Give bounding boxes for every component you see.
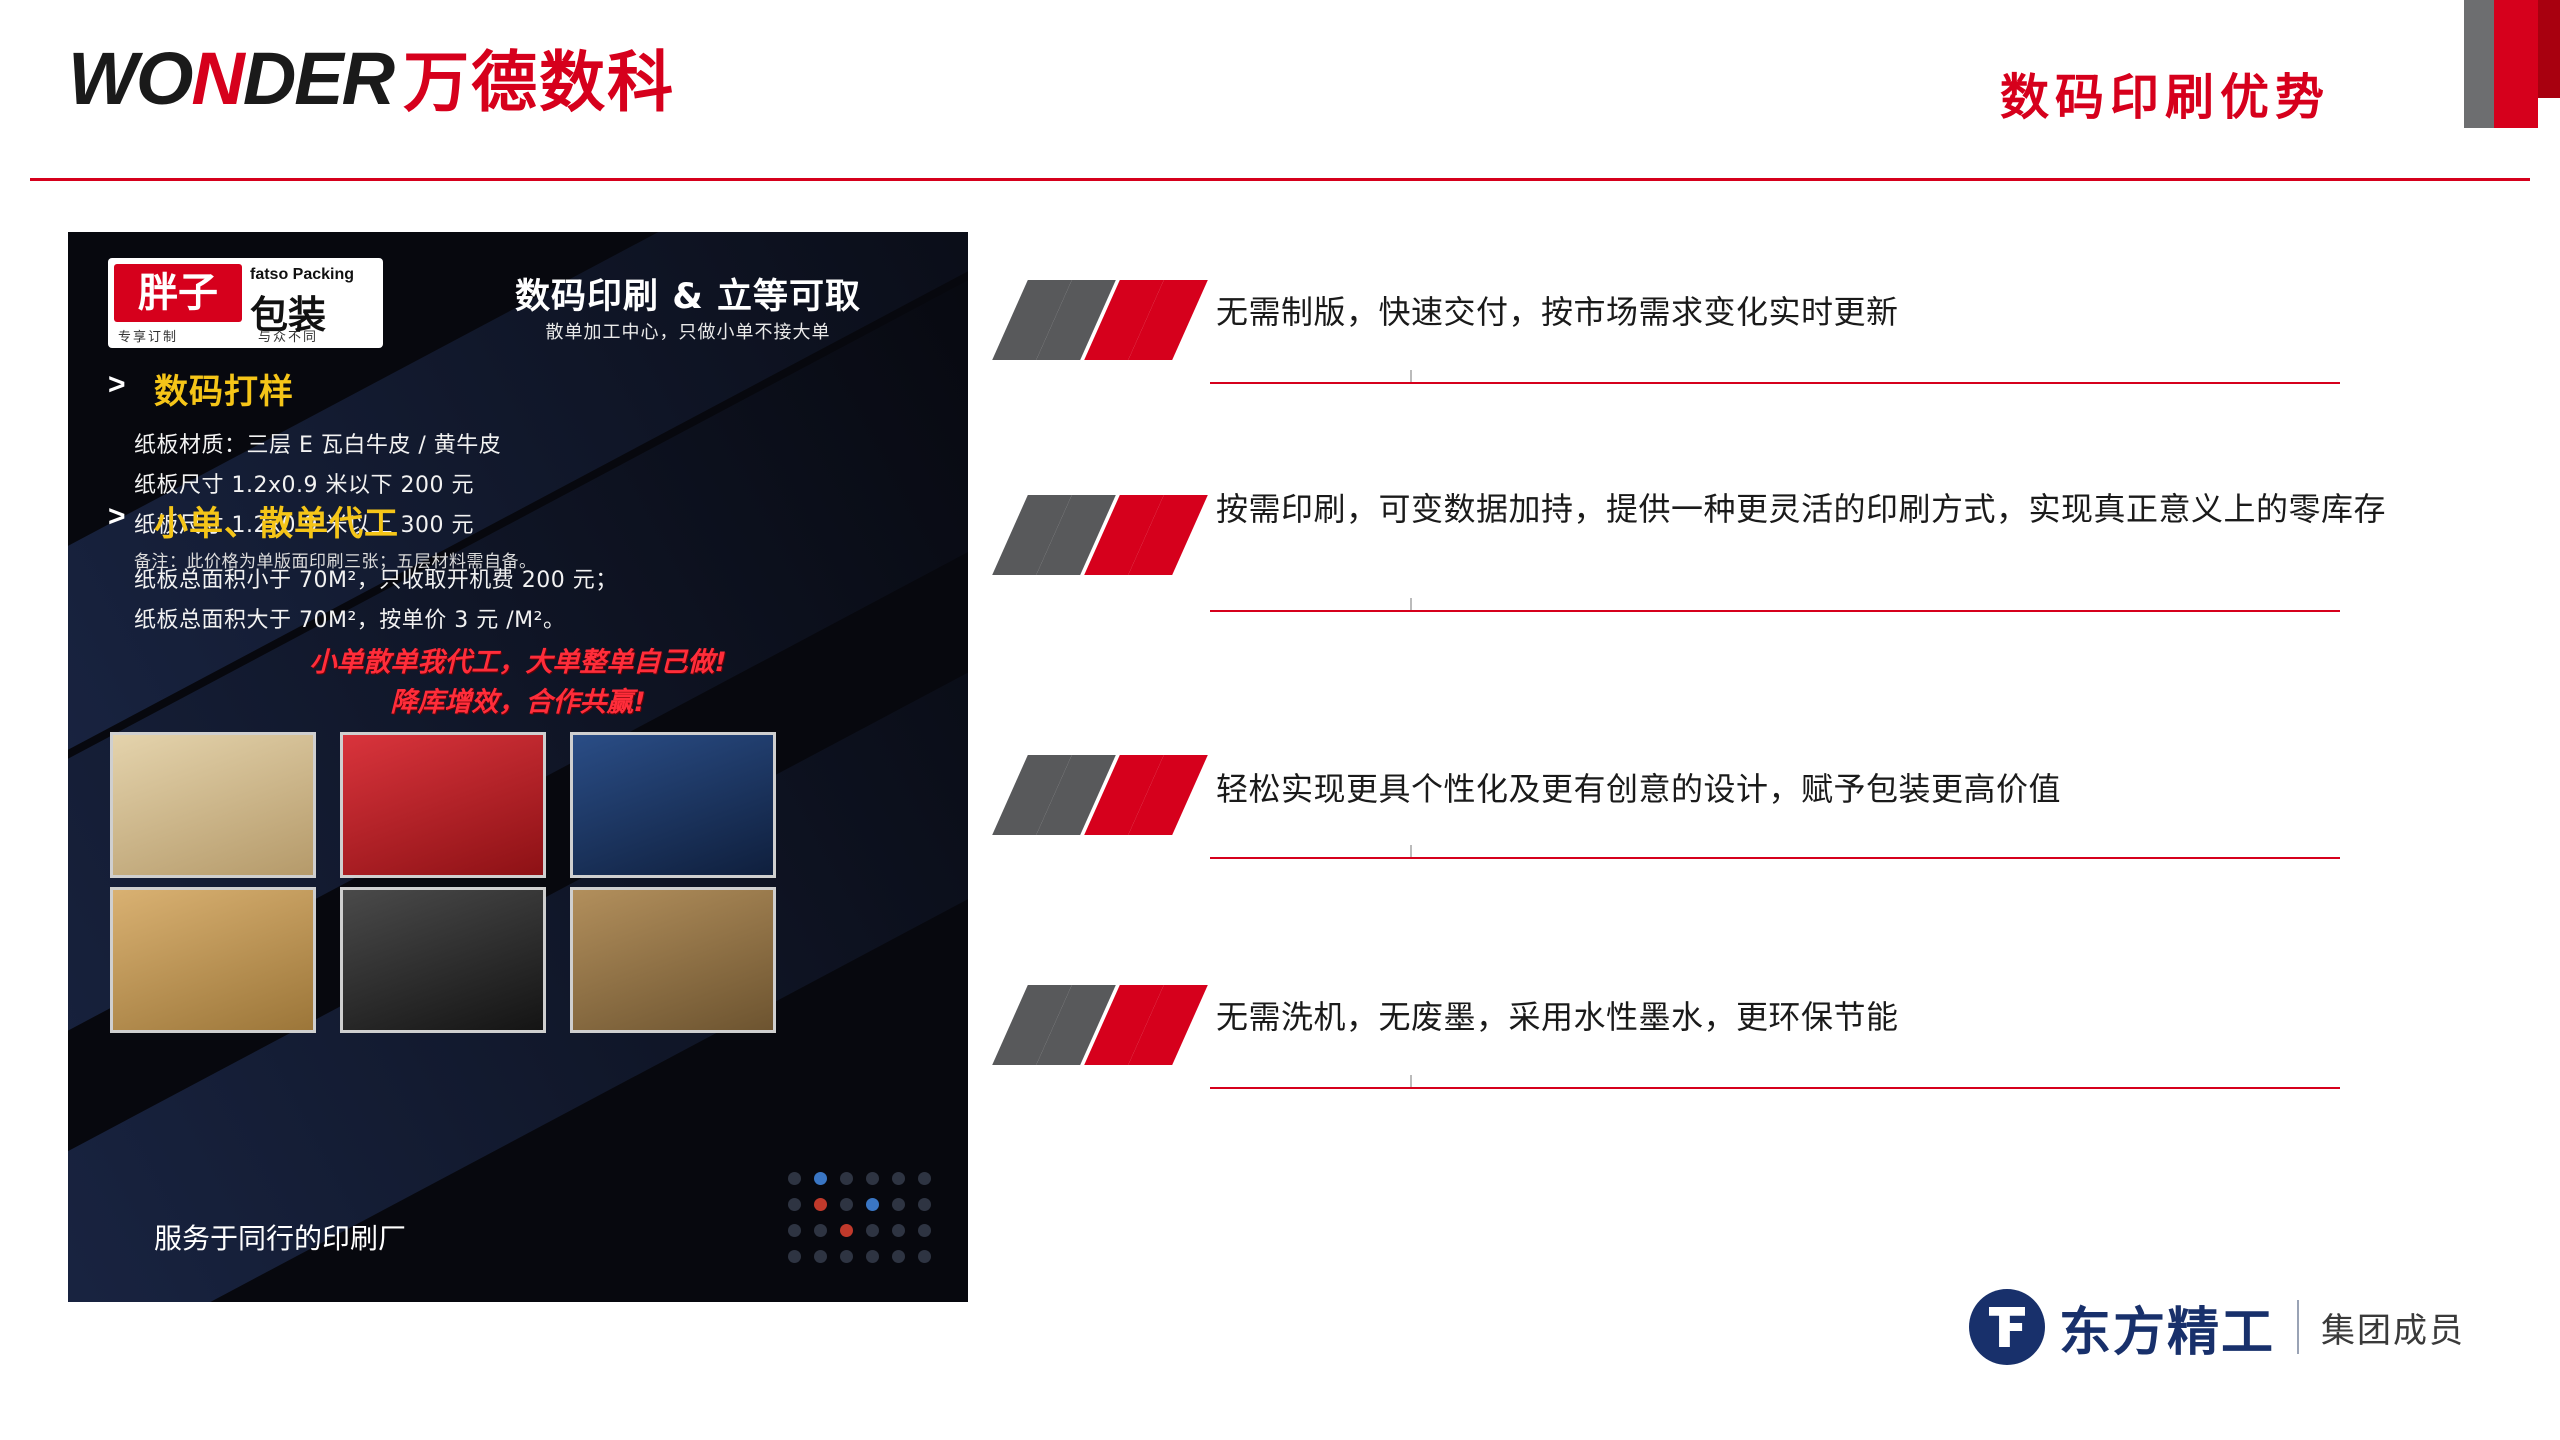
chevron-marker-icon [1010, 280, 1190, 360]
chevron-marker-icon [1010, 495, 1190, 575]
advantage-item-tick [1410, 370, 1412, 382]
logo-wordmark: WONDER [68, 42, 393, 116]
poster-image: 胖子 fatso Packing 包装 专享订制 与众不同 数码印刷 & 立等可… [68, 232, 968, 1302]
logo-chinese-name: 万德数科 [403, 50, 675, 116]
group-member-label: 集团成员 [2321, 1303, 2465, 1352]
advantage-item-underline [1210, 1087, 2340, 1089]
advantage-item-text: 无需制版，快速交付，按市场需求变化实时更新 [1216, 288, 2416, 338]
poster-footer-text: 服务于同行的印刷厂 [154, 1217, 406, 1257]
poster-section2-line-2: 纸板总面积大于 70M²，按单价 3 元 /M²。 [134, 602, 565, 634]
advantage-item-text: 轻松实现更具个性化及更有创意的设计，赋予包装更高价值 [1216, 765, 2416, 815]
header-divider [30, 178, 2530, 181]
logo-wordmark-part1: WO [68, 42, 191, 116]
poster-section2-line-1: 纸板总面积小于 70M²，只收取开机费 200 元； [134, 562, 618, 594]
poster-brand-badge: 胖子 fatso Packing 包装 专享订制 与众不同 [108, 258, 383, 348]
advantage-item: 按需印刷，可变数据加持，提供一种更灵活的印刷方式，实现真正意义上的零库存 [1010, 485, 2430, 745]
advantage-item: 无需制版，快速交付，按市场需求变化实时更新 [1010, 270, 2430, 485]
group-company-name: 东方精工 [2059, 1290, 2275, 1365]
poster-brand-sub-right: 与众不同 [258, 326, 318, 345]
poster-section1-line-2: 纸板尺寸 1.2x0.9 米以下 200 元 [134, 467, 474, 499]
group-member-logo: 东方精工 集团成员 [1969, 1289, 2465, 1365]
chevron-right-icon: > [108, 500, 126, 534]
chevron-marker-icon [1010, 755, 1190, 835]
brand-logo: WONDER 万德数科 [68, 42, 675, 116]
chevron-marker-icon [1010, 985, 1190, 1065]
advantage-item-tick [1410, 598, 1412, 610]
poster-thumbnail [110, 887, 316, 1033]
poster-section1-title: 数码打样 [154, 364, 294, 413]
poster-headline: 数码印刷 & 立等可取 [438, 268, 938, 319]
poster-thumbnail [110, 732, 316, 878]
corner-bar-darkred [2538, 0, 2560, 98]
poster-slogan-line-2: 降库增效，合作共赢! [68, 680, 968, 719]
advantage-list: 无需制版，快速交付，按市场需求变化实时更新 按需印刷，可变数据加持，提供一种更灵… [1010, 270, 2430, 1190]
advantage-item-underline [1210, 382, 2340, 384]
advantage-item-text: 按需印刷，可变数据加持，提供一种更灵活的印刷方式，实现真正意义上的零库存 [1216, 485, 2416, 535]
poster-brand-badge-cn: 胖子 [114, 264, 242, 322]
advantage-item-text: 无需洗机，无废墨，采用水性墨水，更环保节能 [1216, 993, 2416, 1043]
poster-thumbnail [340, 732, 546, 878]
page-title: 数码印刷优势 [2000, 58, 2330, 129]
poster-section1-line-1: 纸板材质：三层 E 瓦白牛皮 / 黄牛皮 [134, 427, 501, 459]
dongfang-logo-icon [1969, 1289, 2045, 1365]
poster-subheadline: 散单加工中心，只做小单不接大单 [438, 318, 938, 344]
poster-thumbnail [570, 732, 776, 878]
logo-divider [2297, 1300, 2299, 1354]
poster-dot-pattern [788, 1172, 948, 1282]
chevron-right-icon: > [108, 368, 126, 402]
advantage-item-underline [1210, 857, 2340, 859]
poster-slogan-line-1: 小单散单我代工，大单整单自己做! [68, 640, 968, 679]
page-header: WONDER 万德数科 数码印刷优势 [0, 0, 2560, 178]
corner-accent-mark [2464, 0, 2560, 128]
advantage-item-underline [1210, 610, 2340, 612]
corner-bar-gray [2464, 0, 2494, 128]
poster-section2-title: 小单、散单代工 [154, 496, 399, 545]
poster-thumbnail [340, 887, 546, 1033]
poster-brand-sub-left: 专享订制 [118, 326, 178, 345]
advantage-item-tick [1410, 845, 1412, 857]
poster-thumbnail [570, 887, 776, 1033]
corner-bar-red [2494, 0, 2538, 128]
poster-brand-english: fatso Packing [250, 266, 354, 284]
advantage-item: 无需洗机，无废墨，采用水性墨水，更环保节能 [1010, 975, 2430, 1190]
advantage-item: 轻松实现更具个性化及更有创意的设计，赋予包装更高价值 [1010, 745, 2430, 975]
advantage-item-tick [1410, 1075, 1412, 1087]
logo-wordmark-accent: N [191, 42, 242, 116]
logo-wordmark-part2: DER [243, 42, 393, 116]
